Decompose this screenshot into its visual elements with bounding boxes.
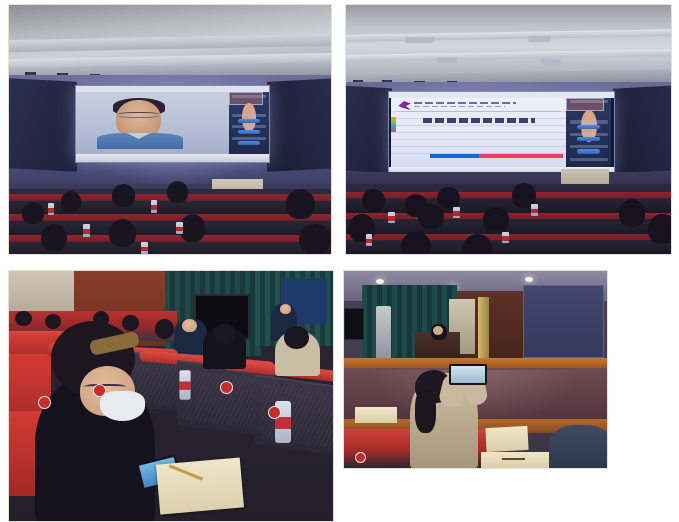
photo-panel-bottom-right (343, 270, 608, 469)
slide-progress-bar-red (479, 154, 563, 157)
sidebar-row (570, 120, 608, 123)
glasses-icon (117, 112, 160, 118)
audience-head (112, 184, 135, 206)
slide-divider (397, 111, 561, 112)
audience-head (22, 202, 45, 224)
water-bottle (180, 370, 191, 399)
audience-head (437, 187, 460, 209)
seat-number-badge (355, 452, 366, 463)
wall-panel-right (267, 78, 331, 171)
audience-head (362, 189, 385, 211)
attendee-face (182, 319, 197, 333)
seat-number-badge (220, 381, 233, 394)
sidebar-header-row (232, 95, 266, 98)
sidebar-action-button[interactable] (577, 137, 600, 141)
ceiling-vent (541, 59, 561, 65)
speaker-face (433, 326, 442, 335)
audience-head (41, 224, 67, 251)
audience-head (299, 224, 331, 254)
sidebar-action-button[interactable] (238, 130, 261, 134)
sidebar-row (570, 145, 608, 148)
presentation-slide (391, 98, 566, 167)
video-call-main-view (76, 92, 229, 154)
pen (502, 458, 526, 460)
audience-head (286, 189, 315, 219)
slide-logo-subtitle-text (414, 106, 505, 108)
wall-panel-right (613, 85, 672, 173)
photo-panel-top-left (8, 4, 332, 255)
audience-head (155, 319, 174, 339)
note-taking-scene (9, 271, 333, 521)
water-bottle (141, 242, 148, 254)
audience-head (109, 219, 136, 246)
audience-head (45, 314, 61, 329)
audience-head (401, 232, 430, 254)
audience-head (619, 199, 645, 226)
audience-head (213, 324, 236, 344)
sidebar-action-button[interactable] (577, 149, 600, 153)
audience-head (418, 204, 444, 229)
photo-panel-bottom-left (8, 270, 334, 522)
slide-logo-title-text (414, 102, 515, 104)
audience-head (61, 191, 82, 212)
sidebar-row (570, 133, 608, 136)
auditorium-video-call-scene (9, 5, 331, 254)
slide-progress-bar-blue (430, 154, 479, 157)
attendee-face (280, 304, 291, 314)
water-bottle (531, 204, 538, 215)
sidebar-action-button[interactable] (238, 141, 261, 145)
stage-view-scene (344, 271, 607, 468)
audience-head (483, 207, 509, 232)
led-display-screen (75, 85, 270, 163)
water-bottle (83, 224, 90, 236)
gold-pillar (478, 297, 489, 358)
audience-head (122, 315, 138, 331)
audience-head (167, 181, 188, 203)
audience-head (284, 326, 308, 349)
sidebar-action-button[interactable] (238, 119, 261, 123)
slide-title-text (423, 118, 535, 124)
wall-panel-left (346, 86, 392, 173)
ceiling (346, 5, 671, 80)
photo-collage (0, 0, 679, 522)
seat-row (346, 234, 671, 254)
sidebar-row (570, 158, 608, 161)
seat-number-badge (93, 384, 106, 397)
led-display-screen (388, 91, 614, 175)
ceiling-vent (437, 57, 457, 63)
ceiling-vent (405, 37, 434, 43)
water-bottle (48, 203, 55, 215)
organization-logo-icon (398, 101, 410, 110)
slide-color-strip (391, 117, 395, 132)
sidebar-row (232, 137, 266, 140)
water-bottle (151, 200, 158, 212)
water-bottle (366, 234, 373, 245)
video-call-sidebar (229, 92, 270, 154)
ceiling-light-icon (376, 279, 384, 284)
audience-head (180, 214, 206, 241)
water-bottle (176, 222, 183, 234)
wall-monitor (344, 308, 364, 340)
audience-head (648, 214, 671, 244)
water-bottle (453, 207, 460, 218)
ponytail (415, 389, 436, 432)
notebook (355, 407, 397, 423)
photo-panel-top-right (345, 4, 672, 255)
sidebar-row (232, 114, 266, 117)
face-mask (100, 391, 145, 421)
sidebar-action-button[interactable] (577, 125, 600, 129)
auditorium-slide-scene (346, 5, 671, 254)
air-purifier (376, 306, 392, 361)
projection-screen (523, 285, 604, 358)
wall-panel-left (9, 78, 77, 171)
desk-panel (255, 374, 333, 458)
browser-status-bar (76, 154, 269, 162)
smartphone[interactable] (449, 364, 487, 386)
sidebar-row (232, 125, 266, 128)
ceiling-vent (528, 36, 551, 42)
neighbouring-attendee (549, 425, 607, 468)
water-bottle (388, 212, 395, 223)
audience-head (15, 311, 31, 326)
notebook (485, 426, 528, 452)
water-bottle (502, 232, 509, 243)
video-call-sidebar (566, 98, 611, 167)
participant-thumbnail (229, 92, 263, 105)
